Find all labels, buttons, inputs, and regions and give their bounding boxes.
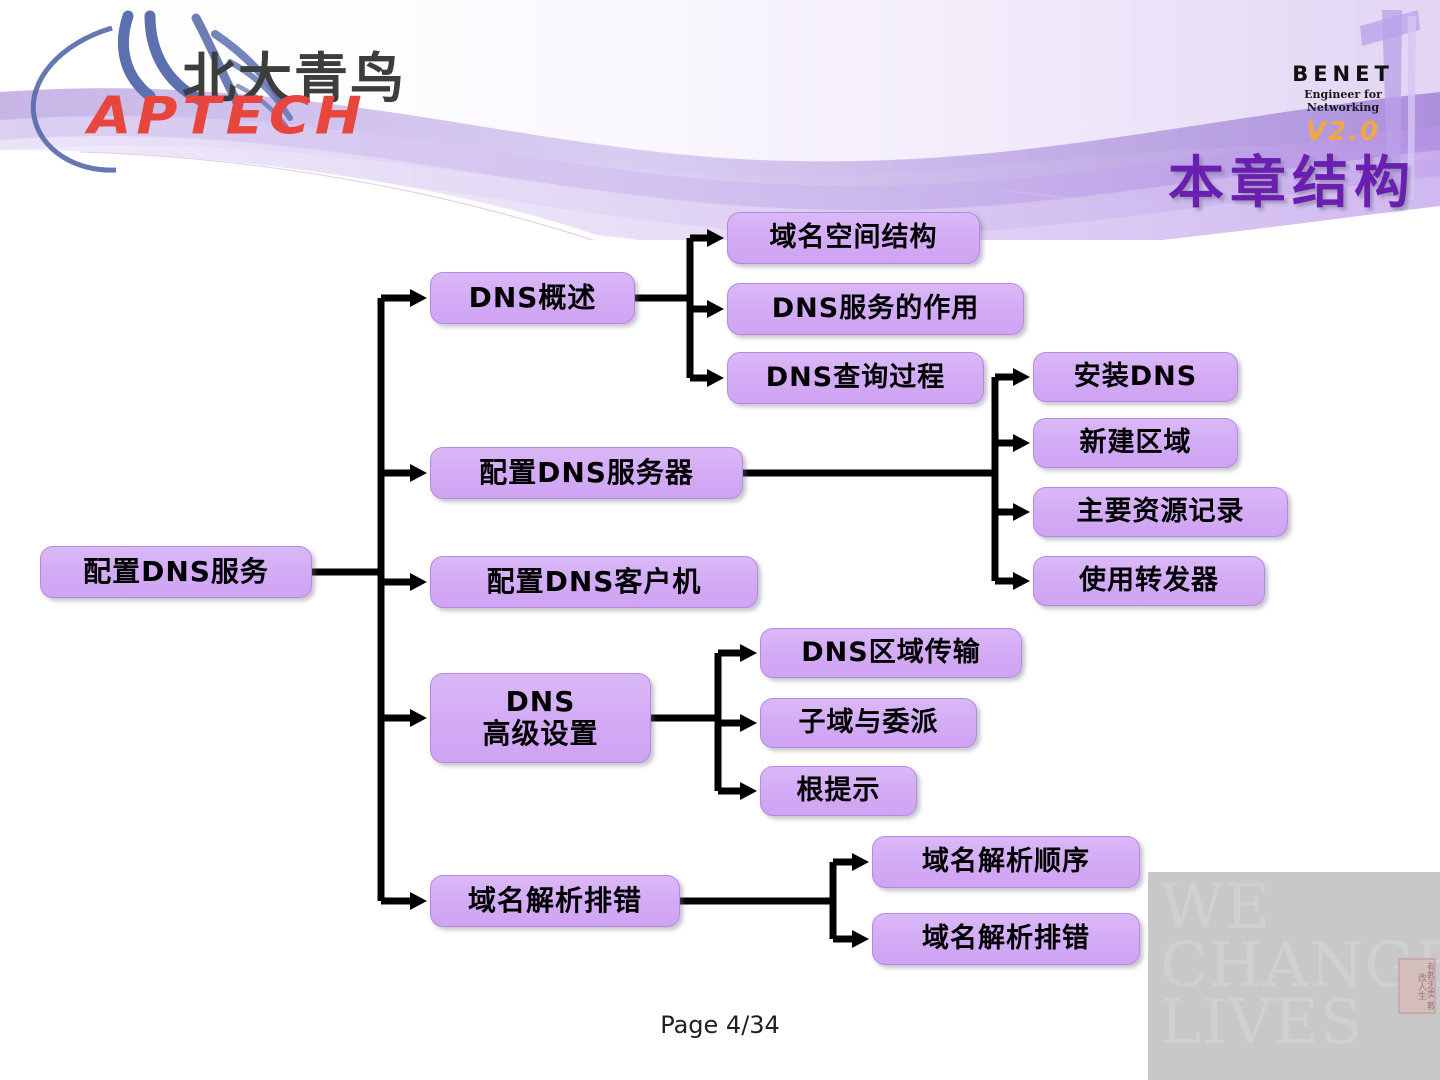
diagram-node-l2-install: 安装DNS <box>1033 352 1238 402</box>
diagram-node-l2-subdomain: 子域与委派 <box>760 698 977 748</box>
diagram-node-root: 配置DNS服务 <box>40 546 312 598</box>
diagram-node-l2-debug: 域名解析排错 <box>872 913 1140 965</box>
diagram-node-l2-zonetrans: DNS区域传输 <box>760 628 1022 678</box>
diagram-node-l2-order: 域名解析顺序 <box>872 836 1140 888</box>
diagram-node-l1-client: 配置DNS客户机 <box>430 556 758 608</box>
diagram-node-l2-query: DNS查询过程 <box>727 352 984 404</box>
slide-canvas: 北大青鸟 APTECH BENET Engineer for Networkin… <box>0 0 1440 1080</box>
page-number: Page 4/34 <box>0 1011 1440 1039</box>
diagram-node-l1-overview: DNS概述 <box>430 272 635 324</box>
diagram-node-l2-namespace: 域名空间结构 <box>727 212 980 264</box>
diagram-node-l1-advanced: DNS 高级设置 <box>430 673 651 763</box>
chapter-structure-diagram: 配置DNS服务DNS概述配置DNS服务器配置DNS客户机DNS 高级设置域名解析… <box>0 0 1440 1080</box>
diagram-node-l2-records: 主要资源记录 <box>1033 487 1288 537</box>
diagram-node-l2-newzone: 新建区域 <box>1033 418 1238 468</box>
diagram-node-l1-server: 配置DNS服务器 <box>430 447 743 499</box>
diagram-connectors <box>0 0 1440 1080</box>
diagram-node-l2-roothint: 根提示 <box>760 766 917 816</box>
diagram-node-l2-role: DNS服务的作用 <box>727 283 1024 335</box>
diagram-node-l2-forwarder: 使用转发器 <box>1033 556 1265 606</box>
diagram-node-l1-trouble: 域名解析排错 <box>430 875 680 927</box>
